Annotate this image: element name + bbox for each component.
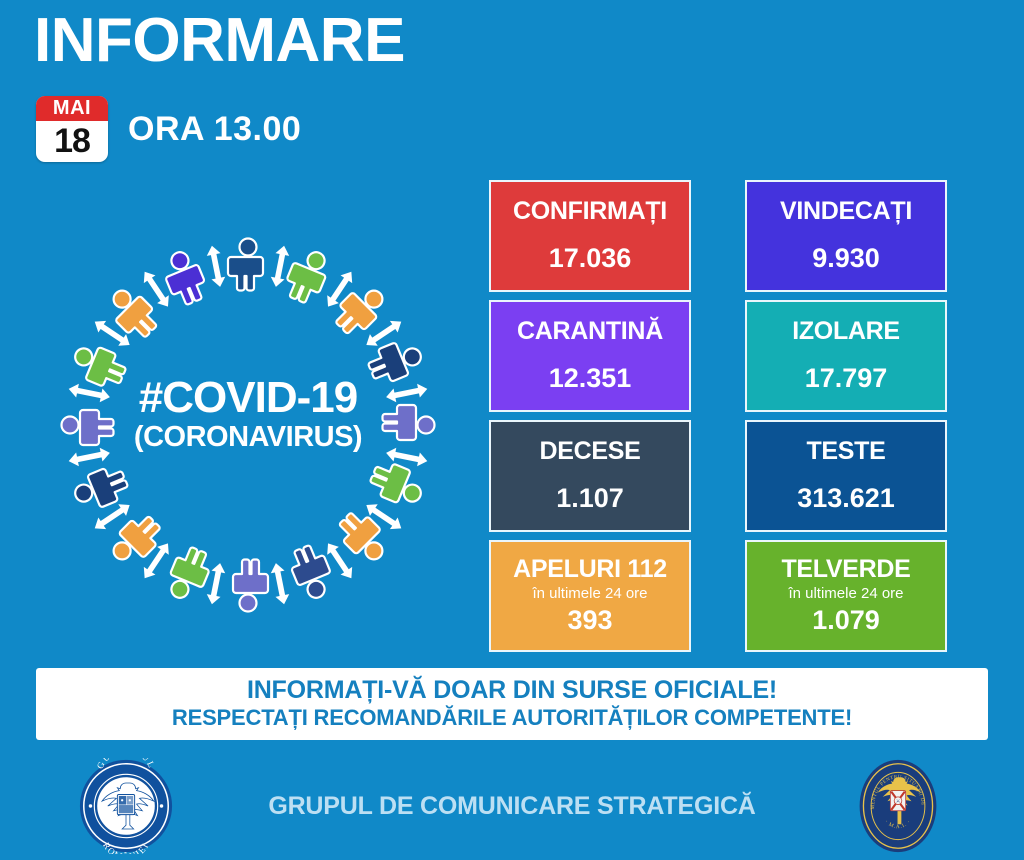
stat-card-teste: TESTE313.621 bbox=[745, 420, 947, 532]
stat-value: 17.797 bbox=[805, 364, 888, 394]
page-title: INFORMARE bbox=[34, 8, 405, 73]
banner-line-1: INFORMAȚI-VĂ DOAR DIN SURSE OFICIALE! bbox=[247, 676, 777, 705]
stat-label: DECESE bbox=[539, 438, 640, 466]
stat-value: 12.351 bbox=[549, 364, 632, 394]
calendar-icon: MAI 18 bbox=[36, 96, 108, 162]
stat-value: 313.621 bbox=[797, 484, 895, 514]
stat-label: VINDECAȚI bbox=[780, 198, 912, 226]
stat-card-carantina: CARANTINĂ12.351 bbox=[489, 300, 691, 412]
stat-label: TESTE bbox=[806, 438, 885, 466]
social-distancing-circle-icon: #COVID-19 (CORONAVIRUS) bbox=[38, 215, 458, 635]
stat-label: CONFIRMAȚI bbox=[513, 198, 667, 226]
report-hour: ORA 13.00 bbox=[128, 110, 301, 149]
stat-card-apeluri-112: APELURI 112în ultimele 24 ore393 bbox=[489, 540, 691, 652]
calendar-month: MAI bbox=[36, 96, 108, 121]
stat-sublabel: în ultimele 24 ore bbox=[788, 585, 903, 602]
stat-label: CARANTINĂ bbox=[517, 318, 663, 346]
stat-value: 17.036 bbox=[549, 244, 632, 274]
stat-label: IZOLARE bbox=[792, 318, 900, 346]
banner-line-2: RESPECTAȚI RECOMANDĂRILE AUTORITĂȚILOR C… bbox=[172, 705, 852, 731]
footer-title: GRUPUL DE COMUNICARE STRATEGICĂ bbox=[174, 792, 850, 821]
stat-value: 393 bbox=[567, 606, 612, 636]
infographic-page: INFORMARE MAI 18 ORA 13.00 bbox=[0, 0, 1024, 860]
svg-text:⚔: ⚔ bbox=[896, 799, 900, 805]
stat-card-telverde: TELVERDEîn ultimele 24 ore1.079 bbox=[745, 540, 947, 652]
stat-card-confirmati: CONFIRMAȚI17.036 bbox=[489, 180, 691, 292]
stat-card-decese: DECESE1.107 bbox=[489, 420, 691, 532]
stat-label: TELVERDE bbox=[781, 556, 910, 584]
departamentul-situatii-urgenta-seal-icon: DEPARTAMENTUL PENTRU SITUAȚII DE URGENȚĂ… bbox=[850, 758, 946, 854]
stat-value: 9.930 bbox=[812, 244, 880, 274]
stats-grid: CONFIRMAȚI17.036VINDECAȚI9.930CARANTINĂ1… bbox=[489, 180, 949, 652]
stat-card-vindecati: VINDECAȚI9.930 bbox=[745, 180, 947, 292]
stat-value: 1.107 bbox=[556, 484, 624, 514]
official-sources-banner: INFORMAȚI-VĂ DOAR DIN SURSE OFICIALE! RE… bbox=[36, 668, 988, 740]
stat-value: 1.079 bbox=[812, 606, 880, 636]
guvernul-romaniei-seal-icon: GUVERNUL ROMÂNIEI bbox=[78, 758, 174, 854]
stat-card-izolare: IZOLARE17.797 bbox=[745, 300, 947, 412]
stat-sublabel: în ultimele 24 ore bbox=[532, 585, 647, 602]
date-bar: MAI 18 ORA 13.00 bbox=[36, 96, 301, 162]
footer: GUVERNUL ROMÂNIEI bbox=[0, 752, 1024, 860]
calendar-day: 18 bbox=[36, 121, 108, 162]
stat-label: APELURI 112 bbox=[513, 556, 667, 584]
